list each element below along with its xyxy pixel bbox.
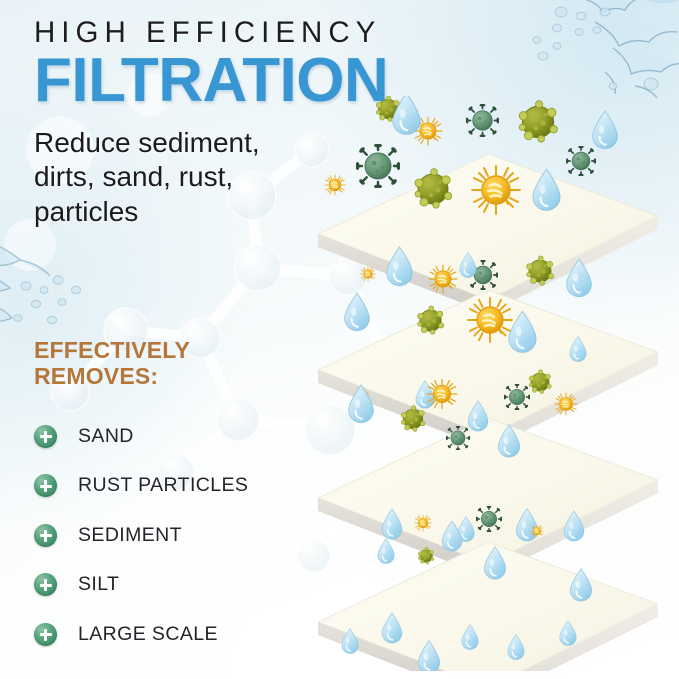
list-item-label: SAND xyxy=(78,425,134,448)
list-item: SAND xyxy=(34,412,304,462)
plus-circle-icon xyxy=(34,623,57,646)
list-item: SILT xyxy=(34,560,304,610)
poster-canvas: HIGH EFFICIENCY FILTRATION Reduce sedime… xyxy=(0,0,679,679)
list-item-label: RUST PARTICLES xyxy=(78,474,248,497)
plus-circle-icon xyxy=(34,524,57,547)
headline-kicker: HIGH EFFICIENCY xyxy=(34,18,434,48)
list-item-label: SILT xyxy=(78,573,119,596)
plus-circle-icon xyxy=(34,474,57,497)
headline-subtitle: Reduce sediment, dirts, sand, rust, part… xyxy=(34,126,324,230)
removes-heading: EFFECTIVELY REMOVES: xyxy=(34,338,304,390)
list-item-label: SEDIMENT xyxy=(78,524,182,547)
list-item-label: LARGE SCALE xyxy=(78,623,218,646)
plus-circle-icon xyxy=(34,425,57,448)
removes-list: SAND RUST PARTICLES SEDIMENT SILT LARGE … xyxy=(34,412,304,660)
filter-stack-illustration xyxy=(318,96,679,671)
list-item: SEDIMENT xyxy=(34,511,304,561)
list-item: LARGE SCALE xyxy=(34,610,304,660)
list-item: RUST PARTICLES xyxy=(34,461,304,511)
plus-circle-icon xyxy=(34,573,57,596)
effectively-removes-section: EFFECTIVELY REMOVES: SAND RUST PARTICLES… xyxy=(34,338,304,659)
